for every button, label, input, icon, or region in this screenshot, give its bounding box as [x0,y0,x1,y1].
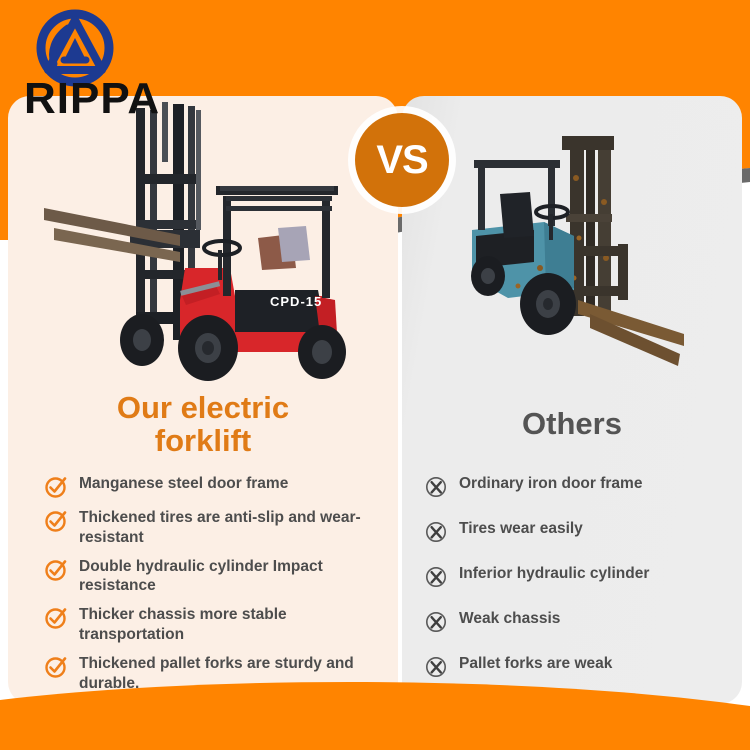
list-item: Pallet forks are weak [424,654,734,679]
red-electric-forklift-image: CPD-15 [30,100,370,395]
right-feature-text: Inferior hydraulic cylinder [459,564,649,584]
left-panel-heading-line1: Our electric [8,392,398,425]
versus-badge-label: VS [376,140,427,180]
check-circle-icon [44,475,68,499]
x-circle-icon [424,610,448,634]
left-panel-heading: Our electric forklift [8,392,398,458]
x-circle-icon [424,565,448,589]
old-blue-rusty-forklift-image [448,118,713,380]
left-feature-list: Manganese steel door frame Thickened tir… [44,474,384,703]
right-feature-text: Ordinary iron door frame [459,474,642,494]
check-circle-icon [44,655,68,679]
check-circle-icon [44,606,68,630]
rippa-wordmark: RIPPA [24,74,160,120]
rippa-logo: RIPPA [24,8,184,120]
list-item: Thickened pallet forks are sturdy and du… [44,654,384,694]
rippa-triangle-circle-logo: RIPPA [24,14,160,120]
left-panel-heading-line2: forklift [8,425,398,458]
right-feature-text: Pallet forks are weak [459,654,612,674]
x-circle-icon [424,520,448,544]
list-item: Thickened tires are anti-slip and wear-r… [44,508,384,548]
left-feature-text: Thickened tires are anti-slip and wear-r… [79,508,384,548]
list-item: Inferior hydraulic cylinder [424,564,734,589]
svg-text:CPD-15: CPD-15 [270,294,322,309]
list-item: Double hydraulic cylinder Impact resista… [44,557,384,597]
list-item: Tires wear easily [424,519,734,544]
list-item: Manganese steel door frame [44,474,384,499]
right-feature-list: Ordinary iron door frame Tires wear easi… [424,474,734,699]
left-feature-text: Double hydraulic cylinder Impact resista… [79,557,384,597]
left-feature-text: Thickened pallet forks are sturdy and du… [79,654,384,694]
right-feature-text: Weak chassis [459,609,560,629]
x-circle-icon [424,475,448,499]
left-feature-text: Manganese steel door frame [79,474,288,494]
check-circle-icon [44,558,68,582]
list-item: Thicker chassis more stable transportati… [44,605,384,645]
versus-badge: VS [355,113,449,207]
comparison-infographic: CPD-15 [0,0,750,750]
list-item: Ordinary iron door frame [424,474,734,499]
left-feature-text: Thicker chassis more stable transportati… [79,605,384,645]
right-panel-heading: Others [402,408,742,441]
x-circle-icon [424,655,448,679]
list-item: Weak chassis [424,609,734,634]
check-circle-icon [44,509,68,533]
right-feature-text: Tires wear easily [459,519,583,539]
